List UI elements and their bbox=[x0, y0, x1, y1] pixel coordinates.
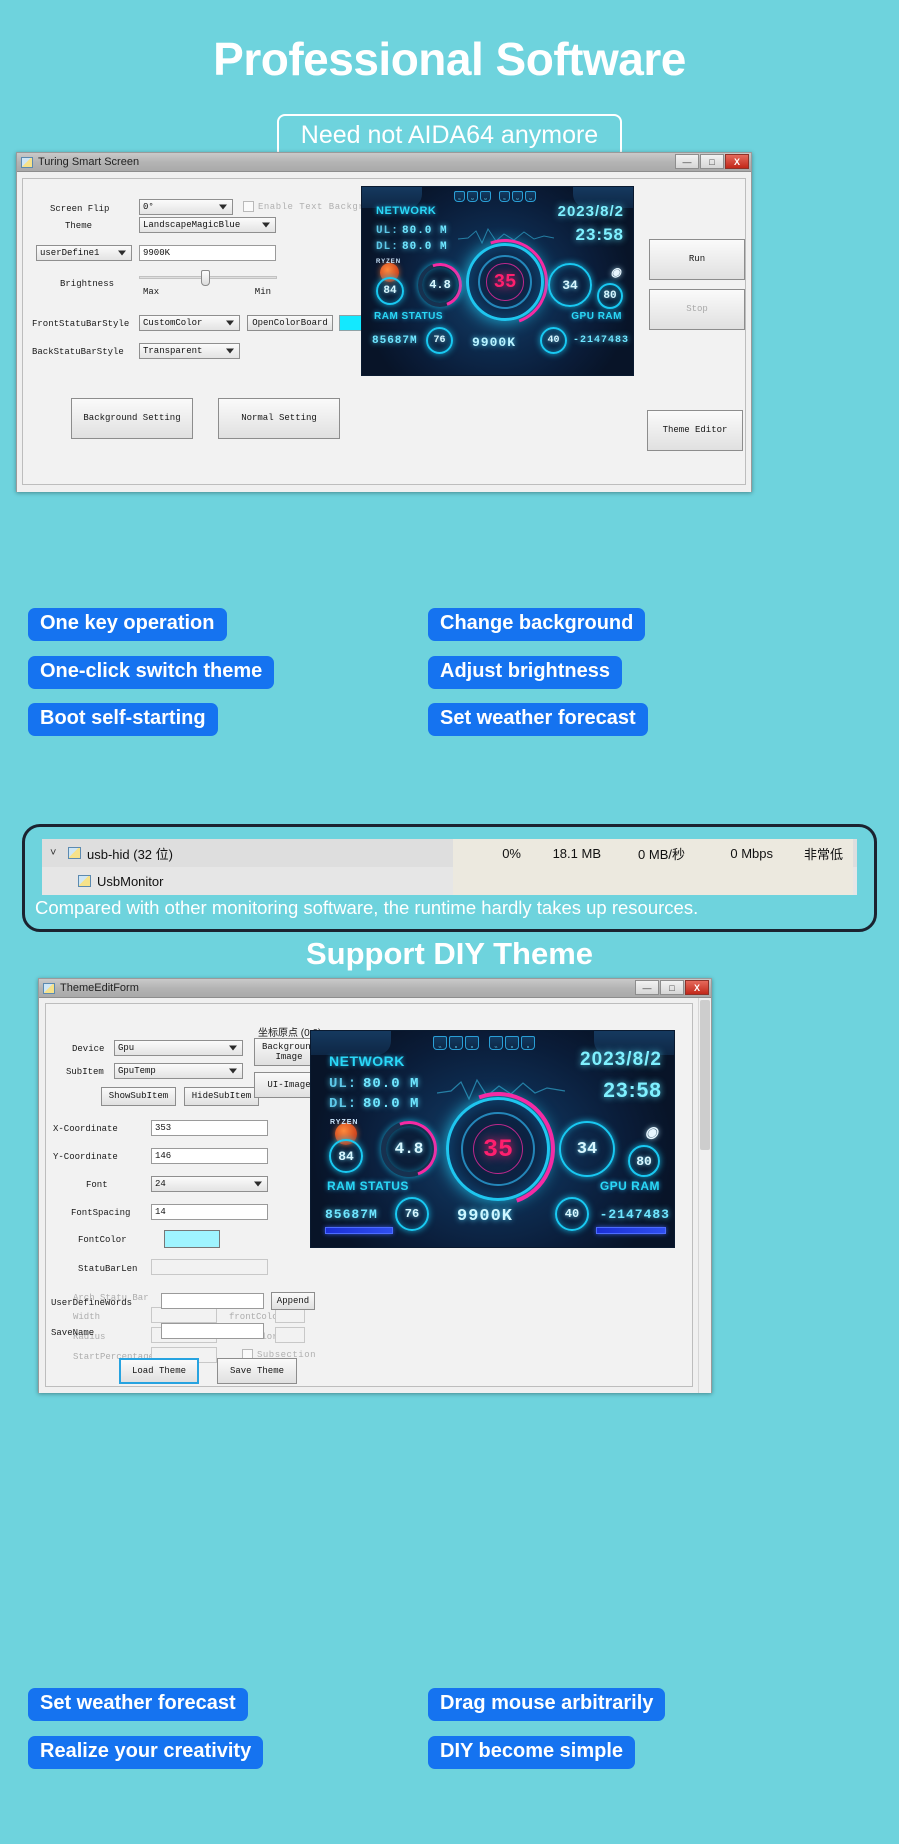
scrollbar-thumb[interactable] bbox=[700, 1000, 710, 1150]
hide-subitem-button[interactable]: HideSubItem bbox=[184, 1087, 259, 1106]
subitem-label: SubItem bbox=[66, 1067, 104, 1077]
minimize-button[interactable]: — bbox=[635, 980, 659, 995]
ul-value: 80.0 M bbox=[363, 1076, 419, 1092]
open-color-board-button[interactable]: OpenColorBoard bbox=[247, 315, 333, 331]
slider-thumb[interactable] bbox=[201, 270, 210, 286]
cpu-name: 9900K bbox=[457, 1207, 513, 1226]
subitem-select[interactable]: GpuTemp bbox=[114, 1063, 243, 1079]
chevron-down-icon bbox=[262, 223, 270, 228]
savename-input[interactable] bbox=[161, 1323, 264, 1339]
cpu-load-value: 84 bbox=[383, 285, 396, 297]
feature-pill-one-click-switch-theme: One-click switch theme bbox=[28, 656, 274, 689]
back-statubar-select[interactable]: Transparent bbox=[139, 343, 240, 359]
table-row[interactable]: ˅ usb-hid (32 位) 0% 18.1 MB 0 MB/秒 0 Mbp… bbox=[42, 839, 857, 867]
feature-pill-diy-become-simple: DIY become simple bbox=[428, 1736, 635, 1769]
brightness-label: Brightness bbox=[60, 279, 114, 289]
run-button[interactable]: Run bbox=[649, 239, 745, 280]
task-manager-rows: ˅ usb-hid (32 位) 0% 18.1 MB 0 MB/秒 0 Mbp… bbox=[42, 839, 857, 896]
dl-value: 80.0 M bbox=[363, 1096, 419, 1112]
ul-label: UL: bbox=[376, 225, 399, 237]
promo-page: Professional Software Need not AIDA64 an… bbox=[0, 0, 899, 1844]
userdefinewords-input[interactable] bbox=[161, 1293, 264, 1309]
gpu-ram-statusbar bbox=[596, 1227, 666, 1234]
y-coordinate-input[interactable]: 146 bbox=[151, 1148, 268, 1164]
device-label: Device bbox=[72, 1044, 104, 1054]
theme-editor-body: 坐标原点 (0,0) Device Gpu SubItem GpuTemp Sh… bbox=[39, 998, 711, 1393]
front-statubar-select[interactable]: CustomColor bbox=[139, 315, 240, 331]
x-coordinate-label: X-Coordinate bbox=[53, 1124, 118, 1134]
process-name: usb-hid (32 位) bbox=[87, 844, 173, 863]
mini-cell: M bbox=[525, 191, 536, 202]
chevron-down-icon bbox=[226, 349, 234, 354]
chevron-down-icon bbox=[254, 1182, 262, 1187]
preview-time: 23:58 bbox=[576, 225, 624, 245]
gpu-ram-value: -2147483 bbox=[573, 335, 629, 346]
theme-editor-title: ThemeEditForm bbox=[60, 982, 139, 994]
device-select[interactable]: Gpu bbox=[114, 1040, 243, 1056]
font-spacing-input[interactable]: 14 bbox=[151, 1204, 268, 1220]
mini-cell: % bbox=[489, 1036, 503, 1050]
maximize-button[interactable]: □ bbox=[660, 980, 684, 995]
dl-label: DL: bbox=[329, 1096, 357, 1112]
ul-label: UL: bbox=[329, 1076, 357, 1092]
savename-label: SaveName bbox=[51, 1328, 94, 1338]
network-cell-empty bbox=[695, 867, 783, 895]
memory-cell: 18.1 MB bbox=[531, 839, 611, 867]
font-value: 24 bbox=[155, 1179, 166, 1189]
x-coordinate-value: 353 bbox=[155, 1123, 171, 1133]
rog-logo-icon: ◉ bbox=[611, 265, 621, 279]
dl-value: 80.0 M bbox=[402, 241, 448, 253]
theme-editor-titlebar[interactable]: ThemeEditForm — □ X bbox=[39, 979, 711, 998]
mini-cell: M bbox=[467, 191, 478, 202]
statubarlen-input[interactable] bbox=[151, 1259, 268, 1275]
ryzen-brand-label: RYZEN bbox=[376, 259, 401, 265]
ul-value: 80.0 M bbox=[402, 225, 448, 237]
brightness-min-label: Min bbox=[255, 287, 271, 297]
normal-setting-button[interactable]: Normal Setting bbox=[218, 398, 340, 439]
gpu-ram-usage-value: 40 bbox=[565, 1207, 579, 1221]
mini-cell: M bbox=[512, 191, 523, 202]
chevron-down-icon[interactable]: ˅ bbox=[50, 847, 62, 859]
app-icon bbox=[43, 983, 55, 994]
ram-value: 85687M bbox=[325, 1207, 378, 1222]
process-icon bbox=[78, 875, 91, 887]
cpu-load-ring: 84 bbox=[376, 277, 404, 305]
userdefine-select[interactable]: userDefine1 bbox=[36, 245, 132, 261]
font-label: Font bbox=[86, 1180, 108, 1190]
font-select[interactable]: 24 bbox=[151, 1176, 268, 1192]
cpu-load-value: 84 bbox=[338, 1149, 354, 1164]
theme-label: Theme bbox=[65, 221, 92, 231]
font-spacing-label: FontSpacing bbox=[71, 1208, 130, 1218]
background-setting-button[interactable]: Background Setting bbox=[71, 398, 193, 439]
chevron-down-icon bbox=[229, 1046, 237, 1051]
cpu-temp-arc bbox=[372, 1112, 446, 1186]
brightness-max-label: Max bbox=[143, 287, 159, 297]
section-title-diy: Support DIY Theme bbox=[0, 936, 899, 972]
power-cell: 非常低 bbox=[783, 839, 853, 867]
process-icon bbox=[68, 847, 81, 859]
mini-cell: % bbox=[433, 1036, 447, 1050]
network-label: NETWORK bbox=[376, 205, 436, 217]
y-coordinate-label: Y-Coordinate bbox=[53, 1152, 118, 1162]
preview-mini-indicators: % M M % M M bbox=[433, 1036, 535, 1050]
maximize-button[interactable]: □ bbox=[700, 154, 724, 169]
x-coordinate-input[interactable]: 353 bbox=[151, 1120, 268, 1136]
feature-pill-realize-your-creativity: Realize your creativity bbox=[28, 1736, 263, 1769]
checkbox-box bbox=[243, 201, 254, 212]
theme-edit-form-window: ThemeEditForm — □ X 坐标原点 (0,0) Device Gp… bbox=[38, 978, 712, 1393]
save-theme-button[interactable]: Save Theme bbox=[217, 1358, 297, 1384]
cpu-cell-empty bbox=[453, 867, 531, 895]
hero-title: Professional Software bbox=[0, 32, 899, 86]
mini-cell: M bbox=[505, 1036, 519, 1050]
child-process-name: UsbMonitor bbox=[97, 874, 163, 889]
gpu-ram-usage-value: 40 bbox=[547, 335, 559, 346]
ryzen-brand-label: RYZEN bbox=[330, 1119, 358, 1126]
ram-usage-ring: 76 bbox=[395, 1197, 429, 1231]
chevron-down-icon bbox=[118, 251, 126, 256]
feature-pill-boot-self-starting: Boot self-starting bbox=[28, 703, 218, 736]
main-window-titlebar[interactable]: Turing Smart Screen — □ X bbox=[17, 153, 751, 172]
network-label: NETWORK bbox=[329, 1053, 405, 1069]
userdefine-value: userDefine1 bbox=[40, 248, 99, 258]
theme-dashboard-preview[interactable]: % M M % M M NETWORK UL: 80.0 M DL: 80.0 … bbox=[310, 1030, 675, 1248]
memory-cell-empty bbox=[531, 867, 611, 895]
subitem-value: GpuTemp bbox=[118, 1066, 156, 1076]
ram-status-label: RAM STATUS bbox=[327, 1179, 409, 1193]
feature-pill-set-weather-forecast-2: Set weather forecast bbox=[28, 1688, 248, 1721]
screen-flip-value: 0° bbox=[143, 202, 154, 212]
feature-pill-change-background: Change background bbox=[428, 608, 645, 641]
gpu-load-ring: 80 bbox=[628, 1145, 660, 1177]
minimize-button[interactable]: — bbox=[675, 154, 699, 169]
mini-cell: M bbox=[521, 1036, 535, 1050]
userdefine-text-input[interactable]: 9900K bbox=[139, 245, 276, 261]
turing-smart-screen-window: Turing Smart Screen — □ X Screen Flip 0°… bbox=[16, 152, 752, 492]
chevron-down-icon bbox=[226, 321, 234, 326]
brightness-slider[interactable]: Max Min bbox=[139, 270, 277, 300]
width-label: Width bbox=[73, 1312, 100, 1322]
gpu-load-ring: 80 bbox=[597, 283, 623, 309]
app-icon bbox=[21, 157, 33, 168]
font-color-label: FontColor bbox=[78, 1235, 127, 1245]
ram-usage-value: 76 bbox=[433, 335, 445, 346]
mini-cell: M bbox=[449, 1036, 463, 1050]
mini-cell: % bbox=[454, 191, 465, 202]
gpu-ram-usage-ring: 40 bbox=[540, 327, 567, 354]
back-statubar-value: Transparent bbox=[143, 346, 202, 356]
userdefine-text-value: 9900K bbox=[143, 248, 170, 258]
gpu-temp-dial: 34 bbox=[559, 1121, 615, 1177]
preview-corner-left bbox=[311, 1031, 391, 1055]
font-spacing-value: 14 bbox=[155, 1207, 166, 1217]
dashboard-preview[interactable]: % M M % M M NETWORK UL: 80.0 M DL: 80.0 … bbox=[361, 186, 634, 376]
gpu-ram-value: -2147483 bbox=[600, 1207, 670, 1222]
feature-pill-set-weather-forecast: Set weather forecast bbox=[428, 703, 648, 736]
close-button[interactable]: X bbox=[685, 980, 709, 995]
gpu-ram-label: GPU RAM bbox=[600, 1179, 660, 1193]
ram-usage-ring: 76 bbox=[426, 327, 453, 354]
network-cell: 0 Mbps bbox=[695, 839, 783, 867]
cpu-name: 9900K bbox=[472, 335, 516, 350]
preview-date: 2023/8/2 bbox=[558, 203, 624, 220]
y-coordinate-value: 146 bbox=[155, 1151, 171, 1161]
device-value: Gpu bbox=[118, 1043, 134, 1053]
gpu-load-value: 80 bbox=[603, 290, 616, 302]
preview-mini-indicators: % M M % M M bbox=[454, 191, 536, 202]
feature-pill-one-key-operation: One key operation bbox=[28, 608, 227, 641]
main-window-body: Screen Flip 0° Enable Text Background Th… bbox=[17, 172, 751, 492]
chevron-down-icon bbox=[219, 205, 227, 210]
task-manager-caption: Compared with other monitoring software,… bbox=[35, 897, 868, 919]
width-input[interactable] bbox=[151, 1307, 217, 1323]
cpu-load-ring: 84 bbox=[329, 1139, 363, 1173]
child-process-cell: UsbMonitor bbox=[42, 874, 453, 889]
window-controls: — □ X bbox=[635, 980, 709, 995]
process-name-cell: ˅ usb-hid (32 位) bbox=[42, 844, 453, 863]
theme-value: LandscapeMagicBlue bbox=[143, 220, 240, 230]
stop-button[interactable]: Stop bbox=[649, 289, 745, 330]
cpu-cell: 0% bbox=[453, 839, 531, 867]
mini-cell: M bbox=[465, 1036, 479, 1050]
gpu-temp-dial: 34 bbox=[548, 263, 592, 307]
screen-flip-select[interactable]: 0° bbox=[139, 199, 233, 215]
feature-pill-adjust-brightness: Adjust brightness bbox=[428, 656, 622, 689]
front-statubar-value: CustomColor bbox=[143, 318, 202, 328]
main-content-panel: Screen Flip 0° Enable Text Background Th… bbox=[22, 178, 746, 485]
window-controls: — □ X bbox=[675, 154, 749, 169]
load-theme-button[interactable]: Load Theme bbox=[119, 1358, 199, 1384]
theme-editor-button[interactable]: Theme Editor bbox=[647, 410, 743, 451]
preview-date: 2023/8/2 bbox=[580, 1049, 662, 1071]
theme-select[interactable]: LandscapeMagicBlue bbox=[139, 217, 276, 233]
ram-status-label: RAM STATUS bbox=[374, 311, 443, 322]
append-button[interactable]: Append bbox=[271, 1292, 315, 1310]
main-window-title: Turing Smart Screen bbox=[38, 156, 139, 168]
back-color-input[interactable] bbox=[275, 1327, 305, 1343]
front-statubar-label: FrontStatuBarStyle bbox=[32, 319, 129, 329]
gpu-ram-usage-ring: 40 bbox=[555, 1197, 589, 1231]
chevron-down-icon bbox=[229, 1069, 237, 1074]
task-manager-callout: ˅ usb-hid (32 位) 0% 18.1 MB 0 MB/秒 0 Mbp… bbox=[22, 824, 877, 932]
disk-cell-empty bbox=[611, 867, 695, 895]
mini-cell: M bbox=[480, 191, 491, 202]
ram-usage-value: 76 bbox=[405, 1207, 419, 1221]
gpu-temp-value: 34 bbox=[577, 1140, 597, 1159]
preview-time: 23:58 bbox=[603, 1079, 662, 1103]
font-color-swatch[interactable] bbox=[164, 1230, 220, 1248]
show-subitem-button[interactable]: ShowSubItem bbox=[101, 1087, 176, 1106]
gpu-ram-label: GPU RAM bbox=[571, 311, 622, 322]
ram-statusbar bbox=[325, 1227, 393, 1234]
dl-label: DL: bbox=[376, 241, 399, 253]
close-button[interactable]: X bbox=[725, 154, 749, 169]
feature-pill-drag-mouse-arbitrarily: Drag mouse arbitrarily bbox=[428, 1688, 665, 1721]
gpu-load-value: 80 bbox=[636, 1154, 652, 1169]
statubarlen-label: StatuBarLen bbox=[78, 1264, 137, 1274]
screen-flip-label: Screen Flip bbox=[50, 204, 109, 214]
back-statubar-label: BackStatuBarStyle bbox=[32, 347, 124, 357]
gpu-temp-value: 34 bbox=[562, 278, 578, 293]
mini-cell: % bbox=[499, 191, 510, 202]
disk-cell: 0 MB/秒 bbox=[611, 839, 695, 867]
vertical-scrollbar[interactable] bbox=[698, 998, 711, 1393]
rog-logo-icon: ◉ bbox=[645, 1123, 658, 1141]
cpu-temp-arc bbox=[411, 256, 469, 314]
ram-value: 85687M bbox=[372, 335, 418, 347]
power-cell-empty bbox=[783, 867, 853, 895]
table-row-child[interactable]: UsbMonitor bbox=[42, 867, 857, 895]
userdefinewords-label: UserDefineWords bbox=[51, 1298, 132, 1308]
